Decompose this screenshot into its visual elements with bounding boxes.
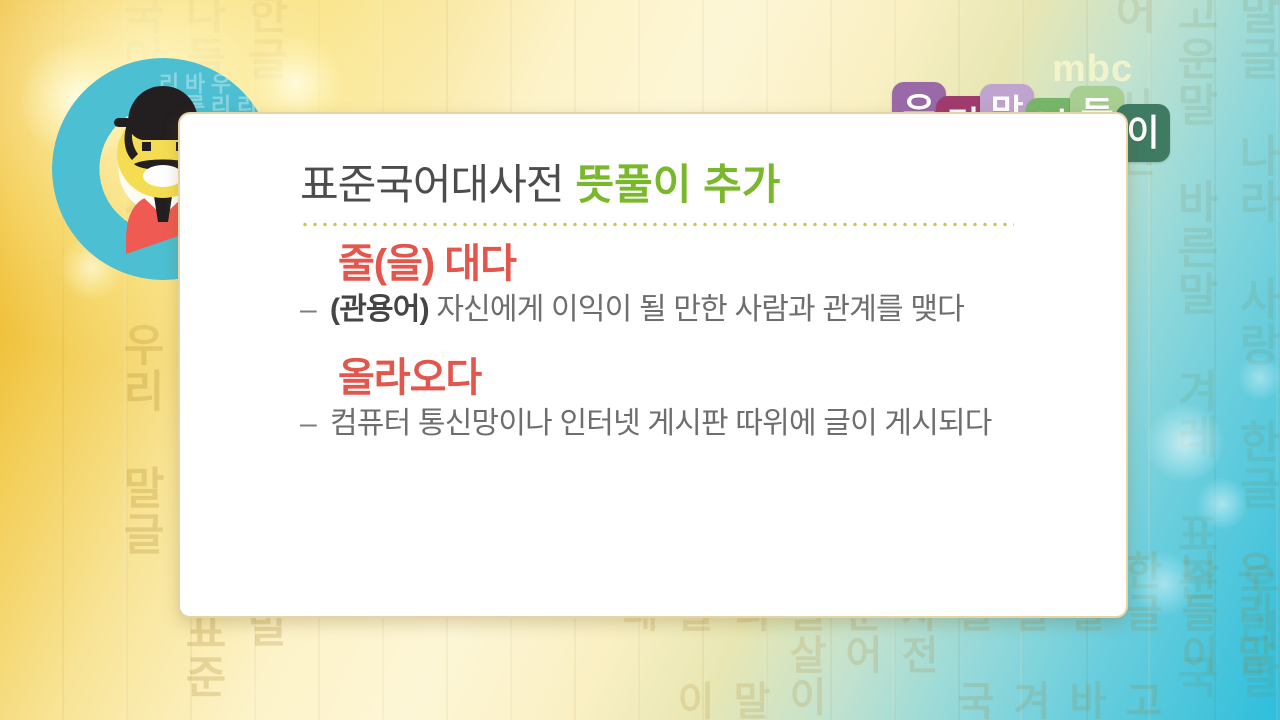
card-title: 표준국어대사전뜻풀이 추가	[300, 162, 1126, 208]
entry-usage-tag: (관용어)	[330, 293, 429, 326]
entry-headword: 올라오다	[338, 355, 1126, 402]
card-body: 표준국어대사전뜻풀이 추가 줄(을) 대다 – (관용어) 자신에게 이익이 될…	[300, 114, 1126, 616]
entry-definition-body: 자신에게 이익이 될 만한 사람과 관계를 맺다	[429, 293, 964, 326]
entry-dash-marker: –	[300, 290, 330, 331]
title-divider	[300, 222, 1014, 227]
dictionary-entry: 올라오다 – 컴퓨터 통신망이나 인터넷 게시판 따위에 글이 게시되다	[300, 355, 1126, 445]
logo-tile-char: 이	[1126, 115, 1159, 151]
entry-definition: – (관용어) 자신에게 이익이 될 만한 사람과 관계를 맺다	[300, 290, 1126, 331]
entry-dash-marker: –	[300, 404, 330, 445]
entry-definition-text: (관용어) 자신에게 이익이 될 만한 사람과 관계를 맺다	[330, 290, 1030, 331]
entry-headword: 줄(을) 대다	[338, 241, 1126, 288]
entry-definition-text: 컴퓨터 통신망이나 인터넷 게시판 따위에 글이 게시되다	[330, 404, 1030, 445]
entry-definition: – 컴퓨터 통신망이나 인터넷 게시판 따위에 글이 게시되다	[300, 404, 1126, 445]
content-card: 표준국어대사전뜻풀이 추가 줄(을) 대다 – (관용어) 자신에게 이익이 될…	[178, 112, 1128, 618]
broadcast-slate: 한글 우리말 바른말 고운말 나들이 겨레 말글 살이 표준 국어 대사전 우리…	[0, 0, 1280, 720]
card-title-plain: 표준국어대사전	[300, 161, 563, 208]
dictionary-entry: 줄(을) 대다 – (관용어) 자신에게 이익이 될 만한 사람과 관계를 맺다	[300, 241, 1126, 331]
entry-definition-body: 컴퓨터 통신망이나 인터넷 게시판 따위에 글이 게시되다	[330, 407, 992, 440]
card-title-accent: 뜻풀이 추가	[575, 161, 780, 208]
